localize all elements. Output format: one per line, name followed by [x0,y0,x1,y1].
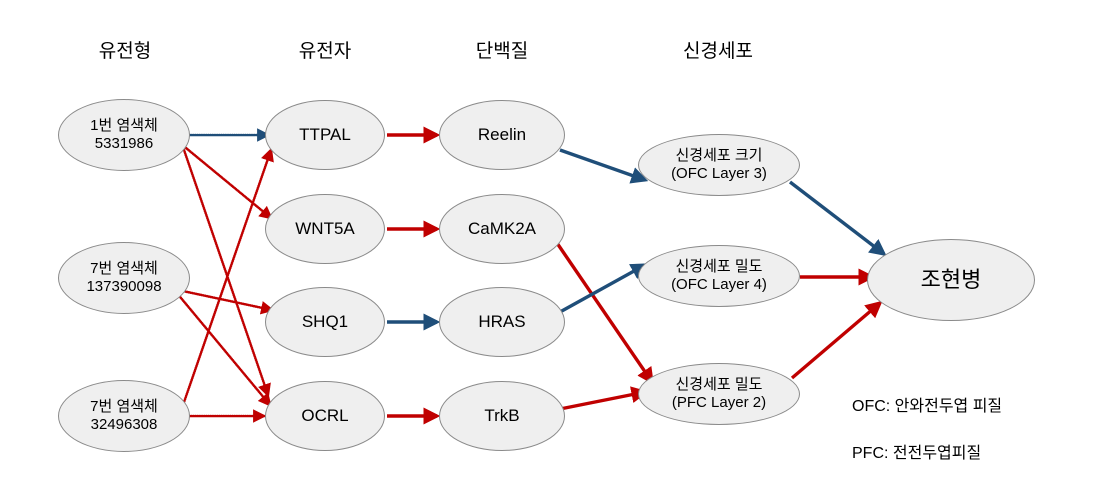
node-trkb[interactable]: TrkB [439,381,565,451]
edge-reelin-to-ofc3 [560,150,645,180]
node-ttpal[interactable]: TTPAL [265,100,385,170]
node-label: 신경세포 밀도 (OFC Layer 4) [671,258,767,295]
edge-chr1-to-wnt5a [186,148,271,218]
node-chr7a[interactable]: 7번 염색체 137390098 [58,242,190,314]
node-ofc3[interactable]: 신경세포 크기 (OFC Layer 3) [638,134,800,196]
column-header-3: 신경세포 [683,36,753,63]
column-header-2: 단백질 [476,36,528,63]
node-ocrl[interactable]: OCRL [265,381,385,451]
abbreviation-legend: OFC: 안와전두엽 피질 PFC: 전전두엽피질 [852,372,1002,488]
node-label: Reelin [478,125,526,146]
column-header-1: 유전자 [299,36,351,63]
column-header-0: 유전형 [99,36,151,63]
node-label: TrkB [484,406,519,427]
node-pfc2[interactable]: 신경세포 밀도 (PFC Layer 2) [638,363,800,425]
legend-line-ofc: OFC: 안와전두엽 피질 [852,395,1002,418]
edge-hras-to-ofc4 [560,265,645,312]
edge-pfc2-to-scz [792,303,880,378]
node-wnt5a[interactable]: WNT5A [265,194,385,264]
diagram-canvas: 유전형유전자단백질신경세포 1번 염색체 53319867번 염색체 13739… [0,0,1100,494]
edge-chr7b-to-ttpal [182,150,271,408]
node-label: WNT5A [295,219,355,240]
node-hras[interactable]: HRAS [439,287,565,357]
edge-ofc3-to-scz [790,182,884,254]
node-scz[interactable]: 조현병 [867,239,1035,321]
node-label: OCRL [301,406,348,427]
node-label: SHQ1 [302,312,348,333]
edge-trkb-to-pfc2 [560,392,645,409]
node-label: HRAS [478,312,525,333]
edge-camk2a-to-pfc2 [557,243,652,382]
node-camk2a[interactable]: CaMK2A [439,194,565,264]
node-label: 신경세포 크기 (OFC Layer 3) [671,147,767,184]
node-label: 조현병 [921,267,982,294]
edge-chr1-to-ocrl [184,150,268,395]
node-label: CaMK2A [468,219,536,240]
edge-chr7a-to-shq1 [178,290,272,310]
node-label: 신경세포 밀도 (PFC Layer 2) [672,376,766,413]
node-shq1[interactable]: SHQ1 [265,287,385,357]
node-chr7b[interactable]: 7번 염색체 32496308 [58,380,190,452]
edge-chr7a-to-ocrl [176,292,270,405]
node-label: TTPAL [299,125,351,146]
node-label: 1번 염색체 5331986 [90,117,158,154]
node-ofc4[interactable]: 신경세포 밀도 (OFC Layer 4) [638,245,800,307]
node-reelin[interactable]: Reelin [439,100,565,170]
node-label: 7번 염색체 137390098 [86,260,161,297]
node-label: 7번 염색체 32496308 [90,398,158,435]
legend-line-pfc: PFC: 전전두엽피질 [852,442,1002,465]
node-chr1[interactable]: 1번 염색체 5331986 [58,99,190,171]
